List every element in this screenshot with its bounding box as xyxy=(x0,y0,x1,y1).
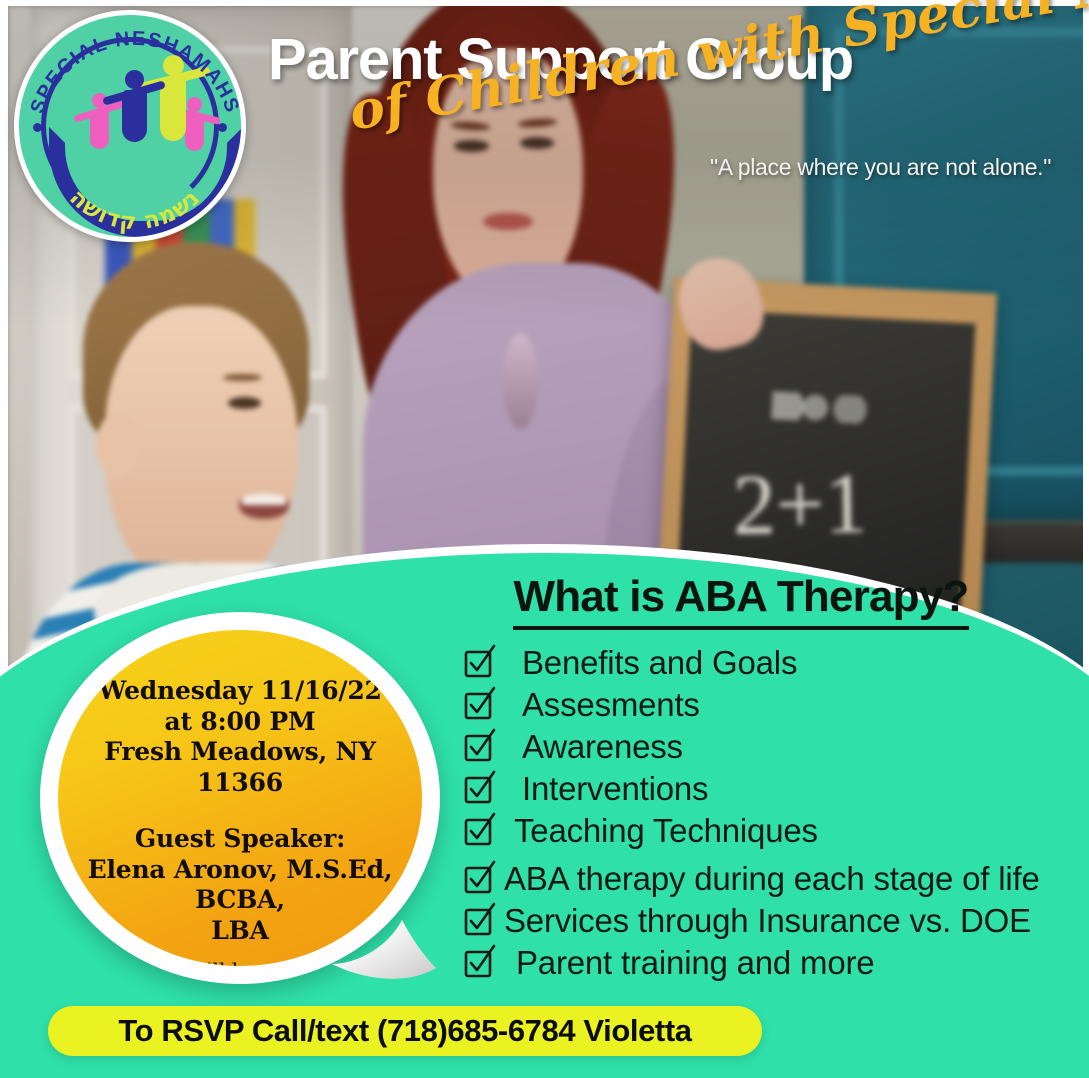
list-item: Teaching Techniques xyxy=(464,812,1082,850)
list-item-label: Services through Insurance vs. DOE xyxy=(504,902,1031,940)
list-item: Parent training and more xyxy=(464,944,1082,982)
list-item-label: Benefits and Goals xyxy=(522,644,797,682)
list-item-label: Interventions xyxy=(522,770,708,808)
photo-chalkboard-equation: 2+1 xyxy=(733,459,869,547)
list-item-label: Awareness xyxy=(522,728,683,766)
aba-heading: What is ABA Therapy? xyxy=(513,572,968,630)
photo-boy-eye xyxy=(228,397,260,409)
speaker-name-cont: LBA xyxy=(84,916,396,947)
sticker-face: Wednesday 11/16/22 at 8:00 PM Fresh Mead… xyxy=(58,630,422,966)
checkbox-checked-icon xyxy=(464,864,494,894)
checkbox-checked-icon xyxy=(464,648,494,678)
photo-woman-lips xyxy=(483,213,532,230)
photo-boy-ear xyxy=(96,413,139,477)
list-item: Benefits and Goals xyxy=(464,644,1082,682)
rsvp-text: To RSVP Call/text (718)685-6784 Violetta xyxy=(118,1013,691,1049)
checkbox-checked-icon xyxy=(464,732,494,762)
dinner-note: Dinner will be served. xyxy=(84,958,396,966)
photo-woman-eye-right xyxy=(520,137,554,149)
event-location: Fresh Meadows, NY 11366 xyxy=(84,737,396,798)
flyer-canvas: 2+1 Parent Support Group of Children wit… xyxy=(0,0,1089,1078)
organization-logo: SPECIAL NESHAMAHS נשמה קדושה xyxy=(14,10,246,242)
photo-boy-brow xyxy=(223,374,262,382)
speaker-name: Elena Aronov, M.S.Ed, BCBA, xyxy=(84,855,396,916)
list-item-label: Assesments xyxy=(522,686,700,724)
checkbox-checked-icon xyxy=(464,774,494,804)
speaker-label: Guest Speaker: xyxy=(84,824,396,855)
list-item: Awareness xyxy=(464,728,1082,766)
list-item: Services through Insurance vs. DOE xyxy=(464,902,1082,940)
checkbox-checked-icon xyxy=(464,816,494,846)
list-item: ABA therapy during each stage of life xyxy=(464,860,1082,898)
list-item: Interventions xyxy=(464,770,1082,808)
list-item: Assesments xyxy=(464,686,1082,724)
photo-chalkboard-dots xyxy=(772,391,875,424)
logo-arc-text: SPECIAL NESHAMAHS xyxy=(26,28,243,117)
checkbox-checked-icon xyxy=(464,690,494,720)
logo-hebrew-text: נשמה קדושה xyxy=(64,185,205,236)
event-time: at 8:00 PM xyxy=(84,707,396,738)
checkbox-checked-icon xyxy=(464,906,494,936)
rsvp-banner[interactable]: To RSVP Call/text (718)685-6784 Violetta xyxy=(48,1006,762,1056)
checkbox-checked-icon xyxy=(464,948,494,978)
logo-curved-text: SPECIAL NESHAMAHS נשמה קדושה xyxy=(19,15,246,242)
photo-woman-eye-left xyxy=(454,140,488,152)
event-date: Wednesday 11/16/22 xyxy=(84,676,396,707)
event-details-sticker: Wednesday 11/16/22 at 8:00 PM Fresh Mead… xyxy=(40,612,440,984)
aba-checklist: Benefits and Goals Assesments xyxy=(392,644,1082,982)
list-item-label: Teaching Techniques xyxy=(514,812,818,850)
photo-woman-neckline xyxy=(503,333,538,429)
sticker-spacer xyxy=(84,798,396,824)
list-item-label: Parent training and more xyxy=(516,944,874,982)
aba-section: What is ABA Therapy? Benefits and Goals xyxy=(392,572,1082,986)
sticker-text-block: Wednesday 11/16/22 at 8:00 PM Fresh Mead… xyxy=(84,676,396,966)
list-item-label: ABA therapy during each stage of life xyxy=(504,860,1040,898)
